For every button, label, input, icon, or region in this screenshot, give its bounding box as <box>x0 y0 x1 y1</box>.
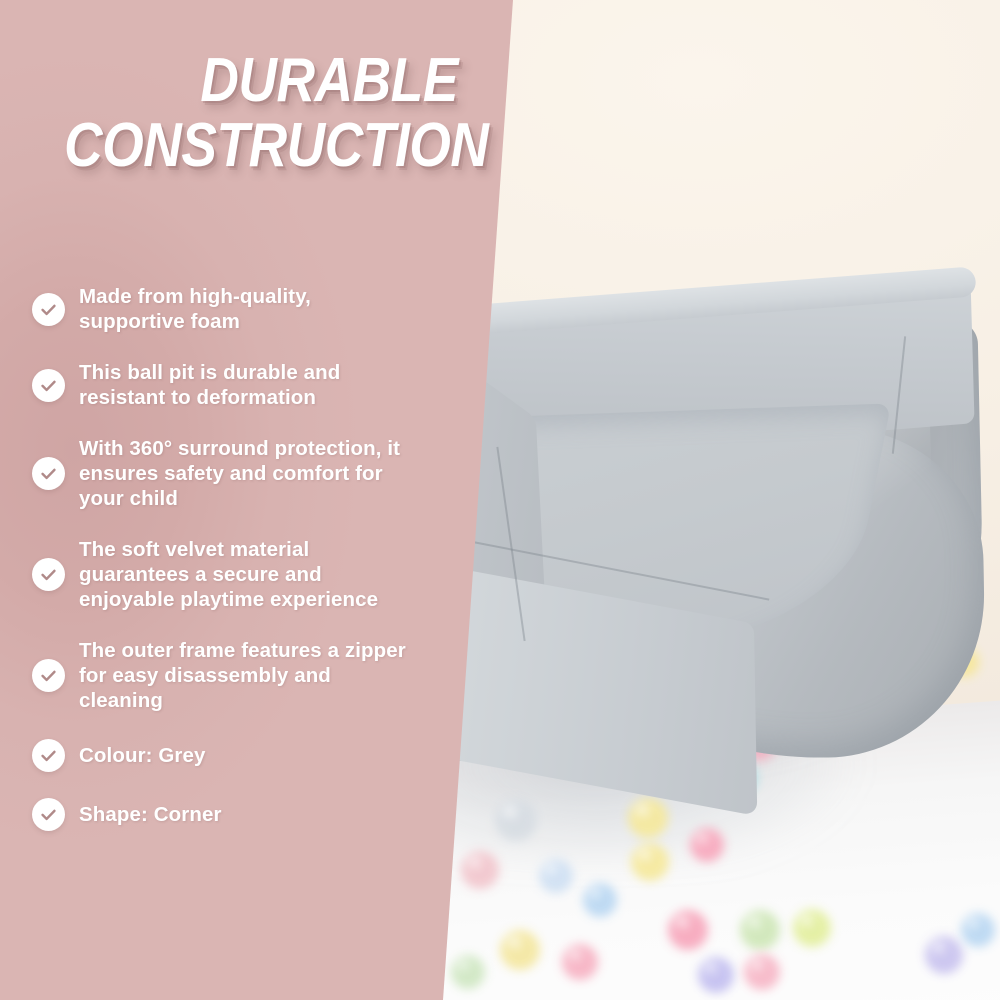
product-infographic: DURABLE CONSTRUCTION Made from high-qual… <box>0 0 1000 1000</box>
feature-item-label: Made from high-quality, supportive foam <box>79 284 409 334</box>
pastel-ball <box>461 851 499 889</box>
pastel-ball <box>961 913 995 947</box>
pastel-ball <box>583 883 617 917</box>
check-circle-icon <box>32 293 65 326</box>
check-circle-icon <box>32 558 65 591</box>
pastel-ball <box>740 910 780 950</box>
pastel-ball <box>495 799 537 841</box>
check-circle-icon <box>32 659 65 692</box>
pastel-ball <box>451 955 485 989</box>
check-circle-icon <box>32 798 65 831</box>
feature-item-label: This ball pit is durable and resistant t… <box>79 360 409 410</box>
page-title-line-1: DURABLE <box>64 52 458 111</box>
check-circle-icon <box>32 739 65 772</box>
feature-item-label: Shape: Corner <box>79 802 222 827</box>
page-title: DURABLE CONSTRUCTION <box>0 52 458 176</box>
page-title-line-2: CONSTRUCTION <box>64 117 458 176</box>
pastel-ball <box>562 944 598 980</box>
pastel-ball <box>744 954 780 990</box>
pastel-ball <box>631 843 669 881</box>
feature-item: The soft velvet material guarantees a se… <box>32 537 432 612</box>
feature-item: This ball pit is durable and resistant t… <box>32 360 432 410</box>
pastel-ball <box>698 957 734 993</box>
pastel-ball <box>925 936 963 974</box>
pastel-ball <box>793 909 831 947</box>
feature-item-label: The outer frame features a zipper for ea… <box>79 638 409 713</box>
feature-item-label: The soft velvet material guarantees a se… <box>79 537 409 612</box>
feature-item-label: Colour: Grey <box>79 743 206 768</box>
feature-item: Made from high-quality, supportive foam <box>32 284 432 334</box>
feature-list: Made from high-quality, supportive foamT… <box>32 284 432 857</box>
check-circle-icon <box>32 457 65 490</box>
pastel-ball <box>500 930 540 970</box>
feature-item: The outer frame features a zipper for ea… <box>32 638 432 713</box>
feature-item-label: With 360° surround protection, it ensure… <box>79 436 409 511</box>
feature-item: Shape: Corner <box>32 798 432 831</box>
corner-ball-pit-product <box>398 300 994 770</box>
feature-item: With 360° surround protection, it ensure… <box>32 436 432 511</box>
pastel-ball <box>668 910 708 950</box>
pastel-ball <box>628 798 668 838</box>
pastel-ball <box>690 828 724 862</box>
pastel-ball <box>539 859 573 893</box>
check-circle-icon <box>32 369 65 402</box>
feature-item: Colour: Grey <box>32 739 432 772</box>
